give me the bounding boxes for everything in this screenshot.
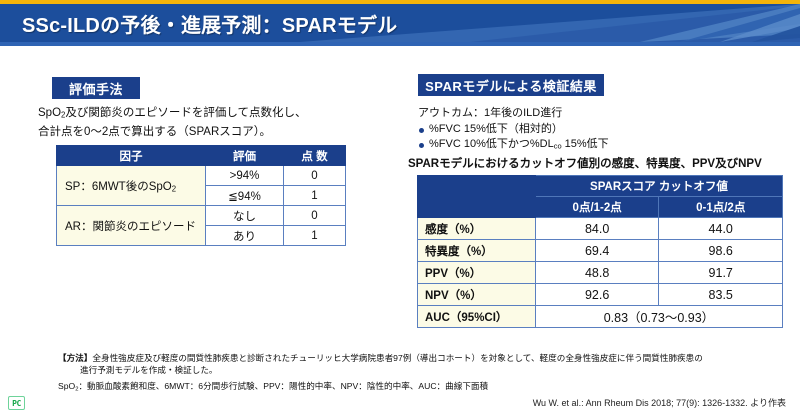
table-row: AUC（95%CI） 0.83（0.73〜0.93）: [418, 306, 783, 328]
cell-value-auc: 0.83（0.73〜0.93）: [535, 306, 782, 328]
table-row: NPV（%） 92.6 83.5: [418, 284, 783, 306]
slide: SSc-ILDの予後・進展予測：SPARモデル 評価手法 SpO2及び関節炎のエ…: [0, 0, 800, 416]
section-badge-validation: SPARモデルによる検証結果: [418, 74, 604, 96]
column-header-cutoff-0-1-vs-2: 0-1点/2点: [659, 197, 783, 218]
method-footnote-text: 全身性強皮症及び軽度の間質性肺疾患と診断されたチューリッヒ大学病院患者97例（導…: [92, 353, 702, 363]
cell-value: 98.6: [659, 240, 783, 262]
column-header-points: 点 数: [284, 146, 346, 166]
results-table-heading: SPARモデルにおけるカットオフ値別の感度、特異度、PPV及びNPV: [408, 155, 762, 171]
method-description-line-1: SpO2及び関節炎のエピソードを評価して点数化し、: [38, 105, 398, 124]
cell-metric: AUC（95%CI）: [418, 306, 536, 328]
section-badge-method: 評価手法: [52, 77, 140, 99]
table-header-row: 因子 評価 点 数: [57, 146, 346, 166]
column-header-factor: 因子: [57, 146, 206, 166]
cell-metric: PPV（%）: [418, 262, 536, 284]
spar-score-table: 因子 評価 点 数 SP：6MWT後のSpO2 >94% 0 ≦94% 1 AR…: [56, 145, 346, 246]
column-header-cutoff-0-vs-1-2: 0点/1-2点: [535, 197, 659, 218]
cell-points: 1: [284, 226, 346, 246]
cell-value: 48.8: [535, 262, 659, 284]
table-row: PPV（%） 48.8 91.7: [418, 262, 783, 284]
page-title: SSc-ILDの予後・進展予測：SPARモデル: [22, 9, 397, 38]
method-footnote: 【方法】全身性強皮症及び軽度の間質性肺疾患と診断されたチューリッヒ大学病院患者9…: [58, 352, 758, 376]
cell-value: 92.6: [535, 284, 659, 306]
column-header-evaluation: 評価: [206, 146, 284, 166]
list-item: %FVC 15%低下（相対的）: [418, 122, 609, 137]
header-bottom-line: [0, 42, 800, 46]
table-row: SP：6MWT後のSpO2 >94% 0: [57, 166, 346, 186]
method-description-line-2: 合計点を0〜2点で算出する（SPARスコア）。: [38, 124, 398, 140]
cell-metric: NPV（%）: [418, 284, 536, 306]
cell-value: 91.7: [659, 262, 783, 284]
cell-metric: 特異度（%）: [418, 240, 536, 262]
citation: Wu W. et al.: Ann Rheum Dis 2018; 77(9):…: [533, 396, 786, 409]
outcome-bullet-list: %FVC 15%低下（相対的） %FVC 10%低下かつ%DLco 15%低下: [418, 122, 609, 154]
slide-header: SSc-ILDの予後・進展予測：SPARモデル: [0, 0, 800, 46]
cell-evaluation: >94%: [206, 166, 284, 186]
table-row: 特異度（%） 69.4 98.6: [418, 240, 783, 262]
cell-value: 69.4: [535, 240, 659, 262]
cell-points: 0: [284, 166, 346, 186]
cell-value: 44.0: [659, 218, 783, 240]
table-header-row-group: SPARスコア カットオフ値: [418, 176, 783, 197]
cell-metric: 感度（%）: [418, 218, 536, 240]
corner-cell: [418, 176, 536, 218]
pc-logo: PC: [8, 396, 25, 410]
column-group-header-cutoff: SPARスコア カットオフ値: [535, 176, 782, 197]
cell-evaluation: あり: [206, 226, 284, 246]
table-row: 感度（%） 84.0 44.0: [418, 218, 783, 240]
cell-value: 83.5: [659, 284, 783, 306]
table-row: AR：関節炎のエピソード なし 0: [57, 206, 346, 226]
list-item: %FVC 10%低下かつ%DLco 15%低下: [418, 137, 609, 154]
method-label: 【方法】: [58, 353, 92, 363]
cell-points: 1: [284, 186, 346, 206]
validation-results-table: SPARスコア カットオフ値 0点/1-2点 0-1点/2点 感度（%） 84.…: [417, 175, 783, 328]
method-description: SpO2及び関節炎のエピソードを評価して点数化し、 合計点を0〜2点で算出する（…: [38, 105, 398, 140]
outcome-text: アウトカム：1年後のILD進行: [418, 104, 562, 120]
method-footnote-line-2: 進行予測モデルを作成・検証した。: [58, 364, 758, 376]
cell-value: 84.0: [535, 218, 659, 240]
cell-factor-ar: AR：関節炎のエピソード: [57, 206, 206, 246]
cell-points: 0: [284, 206, 346, 226]
cell-evaluation: なし: [206, 206, 284, 226]
method-footnote-line-1: 【方法】全身性強皮症及び軽度の間質性肺疾患と診断されたチューリッヒ大学病院患者9…: [58, 352, 758, 364]
abbreviation-footnote: SpO2：動脈血酸素飽和度、6MWT：6分間歩行試験、PPV：陽性的中率、NPV…: [58, 380, 488, 392]
cell-factor-sp: SP：6MWT後のSpO2: [57, 166, 206, 206]
cell-evaluation: ≦94%: [206, 186, 284, 206]
